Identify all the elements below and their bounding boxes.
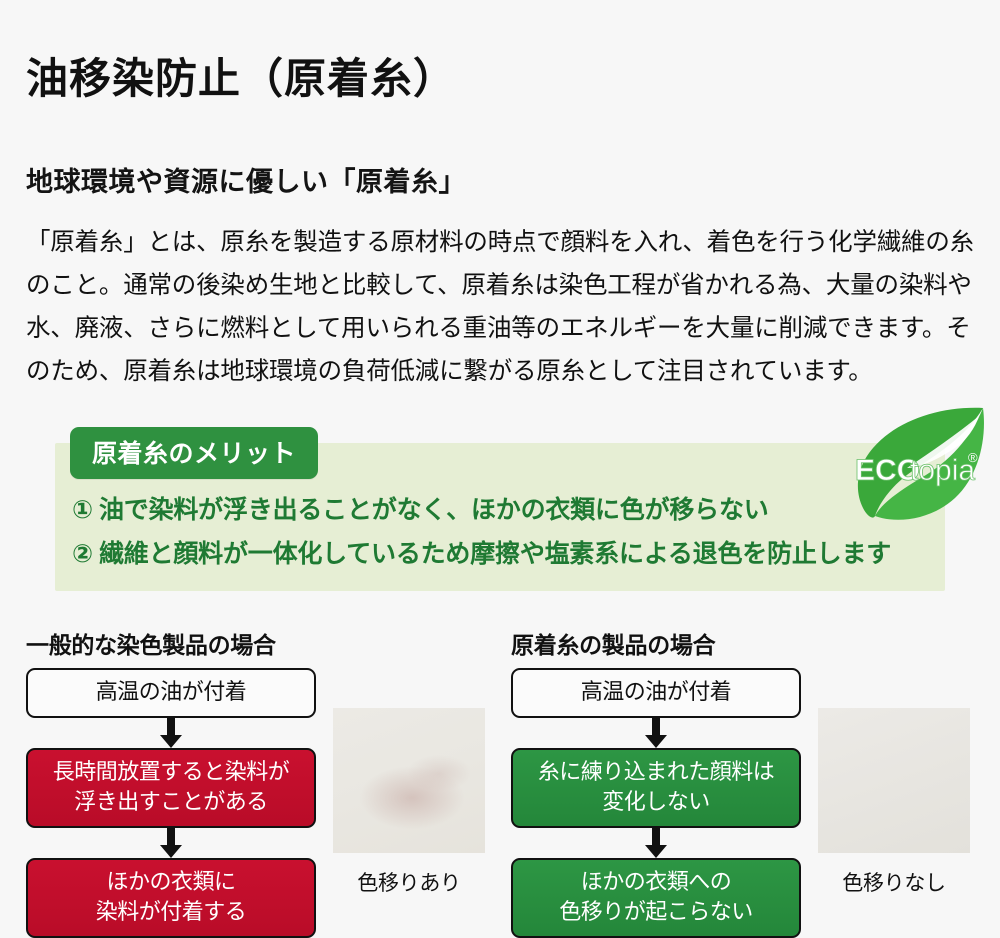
merit-list-item: ①油で染料が浮き出ることがなく、ほかの衣類に色が移らない [72,488,912,532]
flow-step-box: 高温の油が付着 [26,668,316,718]
fabric-swatch-stained: 色移りあり [333,708,485,897]
ecotopia-wordmark: ECO topia ® [855,450,978,487]
fabric-swatch-clean: 色移りなし [818,708,970,897]
product-info-page: 油移染防止（原着糸） 地球環境や資源に優しい「原着糸」 「原着糸」とは、原糸を製… [0,0,1000,923]
merit-list: ①油で染料が浮き出ることがなく、ほかの衣類に色が移らない ②繊維と顔料が一体化し… [72,488,912,576]
flow-arrow-down-icon [511,718,801,748]
flow-arrow-down-icon [26,718,316,748]
flow-step-box: 長時間放置すると染料が 浮き出すことがある [26,748,316,828]
section-subtitle: 地球環境や資源に優しい「原着糸」 [26,160,466,199]
merit-item-text: 繊維と顔料が一体化しているため摩擦や塩素系による退色を防止します [99,540,891,568]
fabric-swatch-caption: 色移りあり [333,867,485,897]
flow-step-box: 高温の油が付着 [511,668,801,718]
ecotopia-logo: ECO topia ® [845,404,990,526]
flow-arrow-down-icon [511,828,801,858]
flow-step-line: 浮き出すことがある [32,787,310,817]
fabric-photo [333,708,485,853]
flow-diagram-dyed-product: 高温の油が付着 長時間放置すると染料が 浮き出すことがある ほかの衣類に 染料が… [26,668,316,938]
flow-step-line: 糸に練り込まれた顔料は [517,757,795,787]
flow-step-line: 変化しない [517,787,795,817]
flow-step-box: ほかの衣類に 染料が付着する [26,858,316,938]
merit-list-item: ②繊維と顔料が一体化しているため摩擦や塩素系による退色を防止します [72,532,912,576]
svg-text:topia: topia [910,454,975,487]
merit-item-text: 油で染料が浮き出ることがなく、ほかの衣類に色が移らない [99,496,769,524]
merit-item-number: ① [72,488,93,532]
flow-arrow-down-icon [26,828,316,858]
flow-step-line: 長時間放置すると染料が [32,757,310,787]
flow-step-line: ほかの衣類に [32,867,310,897]
flow-diagram-dope-dyed-product: 高温の油が付着 糸に練り込まれた顔料は 変化しない ほかの衣類への 色移りが起こ… [511,668,801,938]
flow-step-box: ほかの衣類への 色移りが起こらない [511,858,801,938]
comparison-header-right: 原着糸の製品の場合 [511,626,715,660]
intro-paragraph: 「原着糸」とは、原糸を製造する原材料の時点で顔料を入れ、着色を行う化学繊維の糸の… [26,221,978,393]
page-title: 油移染防止（原着糸） [26,56,456,102]
merit-item-number: ② [72,532,93,576]
flow-step-box: 糸に練り込まれた顔料は 変化しない [511,748,801,828]
fabric-swatch-caption: 色移りなし [818,867,970,897]
merit-panel-badge: 原着糸のメリット [70,427,318,479]
flow-step-line: 高温の油が付着 [517,677,795,707]
flow-step-line: 高温の油が付着 [32,677,310,707]
svg-text:®: ® [968,450,978,465]
comparison-header-left: 一般的な染色製品の場合 [26,626,276,660]
fabric-photo [818,708,970,853]
flow-step-line: ほかの衣類への [517,867,795,897]
